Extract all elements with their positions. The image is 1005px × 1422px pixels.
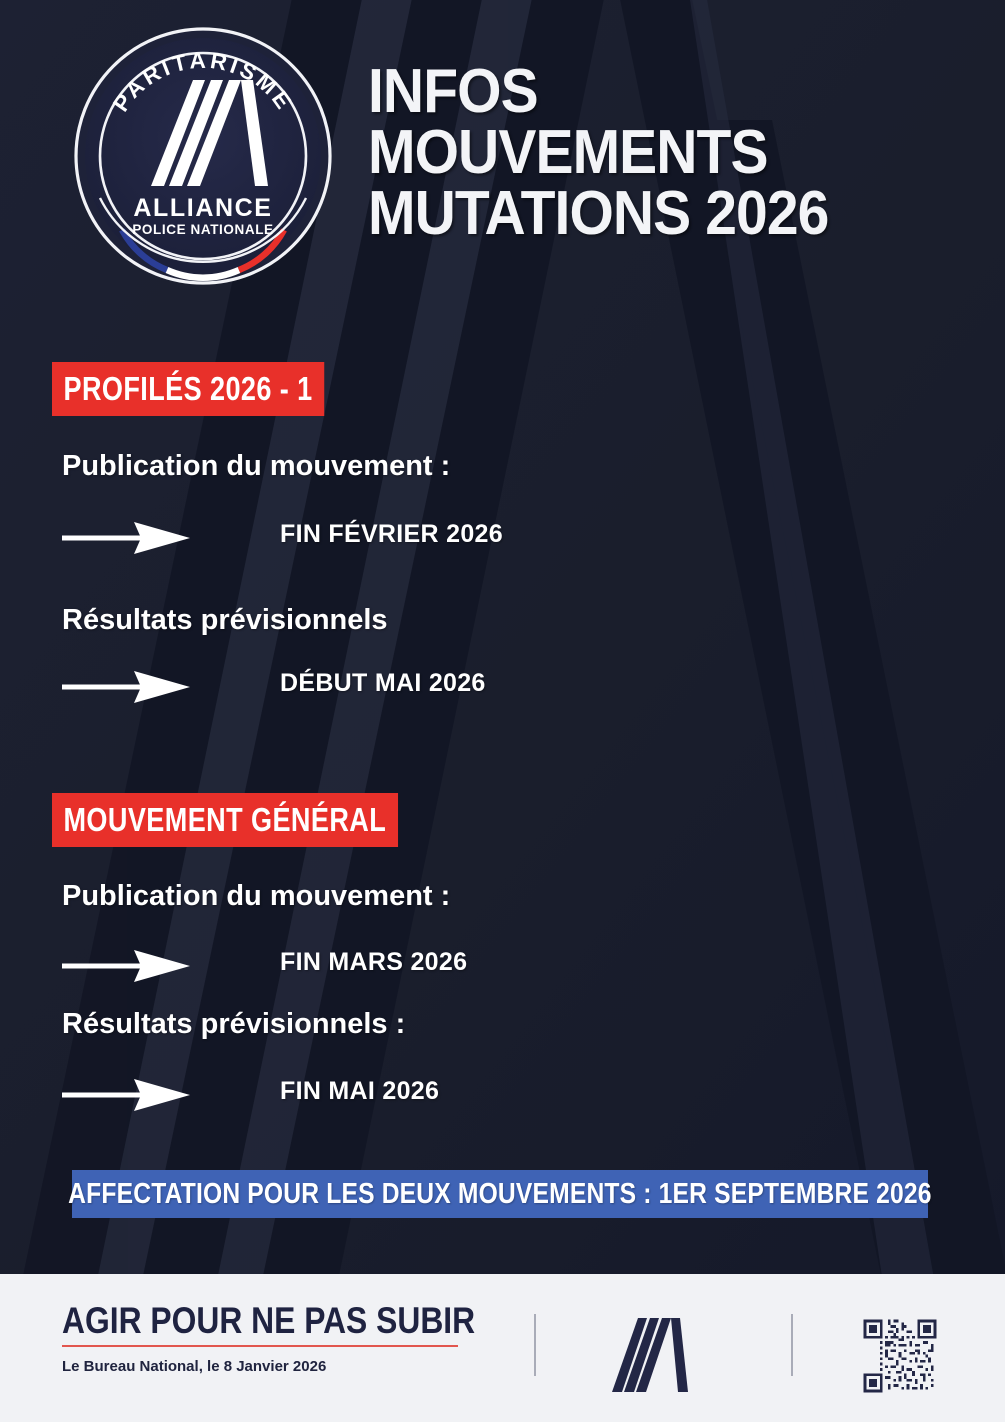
title-line-3: MUTATIONS 2026 <box>368 184 920 245</box>
arrow-right-icon <box>62 520 192 556</box>
affectation-banner-text: AFFECTATION POUR LES DEUX MOUVEMENTS : 1… <box>68 1180 931 1209</box>
arrow-right-icon <box>62 1077 192 1113</box>
section-1-row-1-value: FIN MAI 2026 <box>280 1077 439 1105</box>
logo-name: ALLIANCE <box>133 194 272 222</box>
section-0-row-0-value: FIN FÉVRIER 2026 <box>280 520 503 548</box>
alliance-logo-badge: PARITARISME ALLIANCE POLICE NATIONALE <box>72 18 334 290</box>
qr-svg[interactable] <box>861 1317 939 1395</box>
section-1-row-0-label: Publication du mouvement : <box>62 882 450 911</box>
footer-divider-2 <box>791 1314 793 1376</box>
footer-divider-1 <box>534 1314 536 1376</box>
footer-slogan-block: AGIR POUR NE PAS SUBIR Le Bureau Nationa… <box>62 1302 542 1374</box>
section-0-row-0-label: Publication du mouvement : <box>62 452 450 481</box>
poster-root: PARITARISME ALLIANCE POLICE NATIONALE <box>0 0 1005 1422</box>
section-0-row-1-value: DÉBUT MAI 2026 <box>280 669 486 697</box>
qr-code-icon[interactable] <box>861 1317 939 1395</box>
arrow-right-icon <box>62 948 192 984</box>
monogram-svg <box>605 1310 695 1400</box>
page-title: INFOS MOUVEMENTS MUTATIONS 2026 <box>368 62 968 244</box>
section-1-row-0-value: FIN MARS 2026 <box>280 948 467 976</box>
footer-slogan: AGIR POUR NE PAS SUBIR <box>62 1302 475 1339</box>
affectation-banner: AFFECTATION POUR LES DEUX MOUVEMENTS : 1… <box>72 1170 928 1218</box>
logo-svg: PARITARISME ALLIANCE POLICE NATIONALE <box>72 18 334 290</box>
arrow-right-icon <box>62 669 192 705</box>
section-badge-profiles: PROFILÉS 2026 - 1 <box>52 362 324 416</box>
hero-dark-section: PARITARISME ALLIANCE POLICE NATIONALE <box>0 0 1005 1274</box>
section-badge-general: MOUVEMENT GÉNÉRAL <box>52 793 398 847</box>
section-1-row-1-label: Résultats prévisionnels : <box>62 1010 405 1039</box>
section-0-row-1-label: Résultats prévisionnels <box>62 606 388 635</box>
footer-signature: Le Bureau National, le 8 Janvier 2026 <box>62 1359 542 1374</box>
alliance-monogram-icon <box>605 1310 695 1400</box>
title-line-1: INFOS <box>368 62 920 123</box>
slogan-underline <box>62 1345 458 1347</box>
footer: AGIR POUR NE PAS SUBIR Le Bureau Nationa… <box>0 1274 1005 1422</box>
logo-subtitle: POLICE NATIONALE <box>132 222 273 237</box>
title-line-2: MOUVEMENTS <box>368 123 920 184</box>
